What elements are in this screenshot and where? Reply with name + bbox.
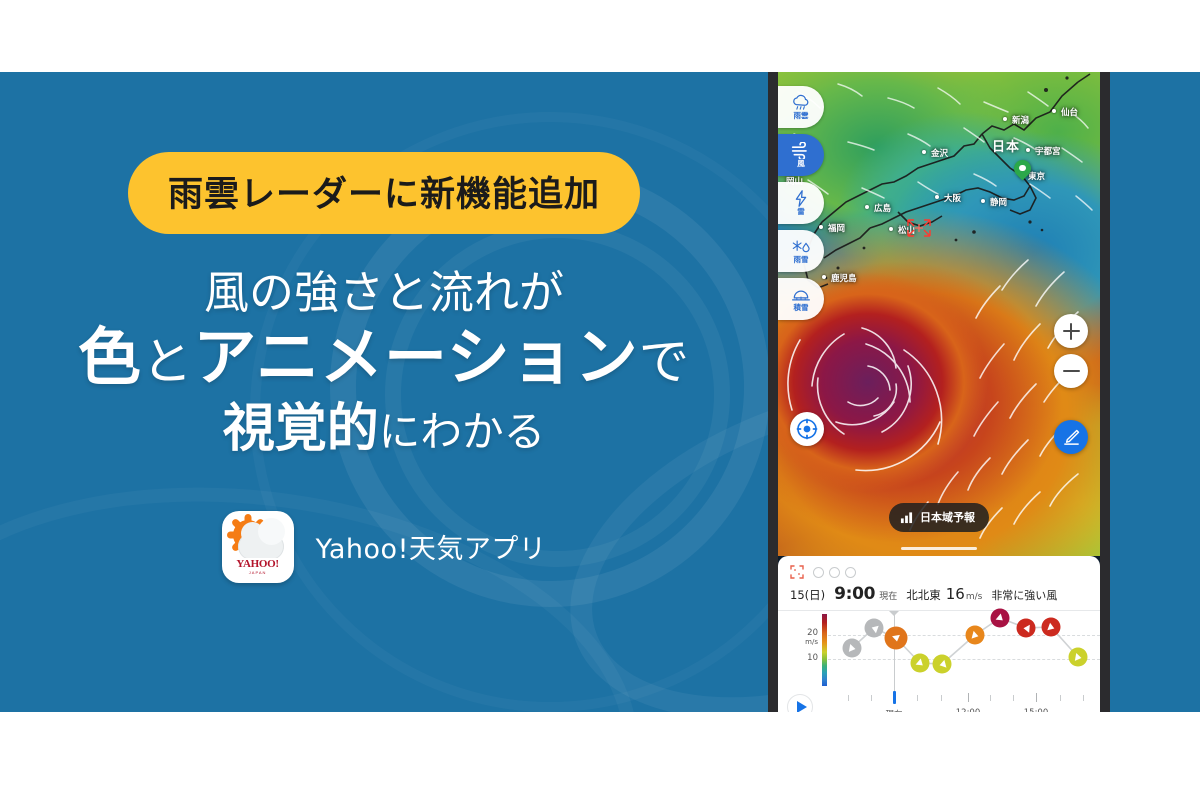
zoom-in-button[interactable] <box>1054 314 1088 348</box>
pagination-dot[interactable] <box>813 567 824 578</box>
yahoo-japan-logo: YAHOO! JAPAN <box>230 558 286 577</box>
headline-line-1: 風の強さと流れが <box>78 266 690 319</box>
headline-line2-c: アニメーション <box>193 321 638 394</box>
headline-line2-b: と <box>142 332 193 391</box>
bar-chart-icon <box>900 511 913 524</box>
data-point[interactable] <box>1042 618 1061 637</box>
summary-speed: 16 <box>946 585 965 603</box>
city-label-sendai: 仙台 <box>1061 106 1078 118</box>
phone-screen: 日本 仙台 新潟 金沢 宇都宮 東京 静岡 大阪 広島 松山 福岡 岡山 鹿児島 <box>778 72 1100 712</box>
feature-badge: 雨雲レーダーに新機能追加 <box>128 152 640 234</box>
timeline-tick <box>848 695 849 701</box>
summary-time: 9:00 <box>834 584 875 604</box>
data-point[interactable] <box>865 619 884 638</box>
play-button[interactable] <box>787 694 813 712</box>
japan-forecast-label: 日本域予報 <box>920 509 975 525</box>
rain-cloud-icon <box>791 94 811 111</box>
wind-direction-arrow <box>870 623 878 633</box>
layer-button-rain-cloud[interactable]: 雨雲 <box>778 86 824 128</box>
timeline-tick <box>990 695 991 701</box>
layer-button-thunder[interactable]: 雷 <box>778 182 824 224</box>
wind-direction-arrow <box>971 630 979 639</box>
summary-now-label: 現在 <box>879 589 897 602</box>
layer-label-thunder: 雷 <box>797 208 805 216</box>
city-label-kanazawa: 金沢 <box>931 147 948 159</box>
plus-icon <box>1063 323 1080 340</box>
layer-label-rain-snow: 雨雪 <box>794 256 809 264</box>
promo-copy: 雨雲レーダーに新機能追加 風の強さと流れが 色とアニメーションで 視覚的にわかる… <box>0 72 768 712</box>
pin-dot <box>1019 165 1026 172</box>
city-label-osaka: 大阪 <box>944 192 961 204</box>
headline: 風の強さと流れが 色とアニメーションで 視覚的にわかる <box>78 266 690 461</box>
banner-image: 雨雲レーダーに新機能追加 風の強さと流れが 色とアニメーションで 視覚的にわかる… <box>0 0 1200 800</box>
edit-icon <box>1063 429 1080 446</box>
city-label-kagoshima: 鹿児島 <box>831 272 857 284</box>
x-axis-label-1500: 15:00 <box>1024 708 1049 712</box>
wind-direction-arrow <box>995 613 1005 623</box>
expand-icon[interactable] <box>790 565 804 579</box>
timeline-tick-now <box>893 691 896 704</box>
timeline-tick <box>1060 695 1061 701</box>
summary-unit: m/s <box>966 592 983 602</box>
yahoo-weather-app-icon: YAHOO! JAPAN <box>222 511 294 583</box>
city-label-utsunomiya: 宇都宮 <box>1035 145 1061 157</box>
timeline-tick <box>941 695 942 701</box>
pagination-dots[interactable] <box>813 567 856 578</box>
zoom-out-button[interactable] <box>1054 354 1088 388</box>
layer-button-wind[interactable]: 風 <box>778 134 824 176</box>
headline-line2-a: 色 <box>78 321 142 394</box>
phone-mockup: 日本 仙台 新潟 金沢 宇都宮 東京 静岡 大阪 広島 松山 福岡 岡山 鹿児島 <box>768 72 1110 712</box>
data-point[interactable] <box>1069 648 1088 667</box>
wind-direction-arrow <box>1023 624 1030 632</box>
data-point[interactable] <box>933 655 952 674</box>
layer-button-rain-snow[interactable]: 雨雪 <box>778 230 824 272</box>
data-point[interactable] <box>966 626 985 645</box>
headline-line3-a: 視覚的 <box>223 399 379 459</box>
japan-forecast-button[interactable]: 日本域予報 <box>889 503 989 532</box>
typhoon-marker-icon <box>906 218 932 238</box>
yahoo-logo-text: YAHOO! <box>236 559 278 570</box>
wind-direction-arrow <box>848 644 855 653</box>
snow-rain-icon <box>791 238 811 255</box>
timeline-tick <box>1013 695 1014 701</box>
country-label: 日本 <box>992 136 1020 155</box>
timeline-tick-major <box>1036 693 1037 702</box>
edit-layers-button[interactable] <box>1054 420 1088 454</box>
layer-label-wind: 風 <box>797 160 805 168</box>
data-point[interactable] <box>843 639 862 658</box>
headline-line2-d: で <box>639 332 690 391</box>
summary-description: 非常に強い風 <box>991 587 1057 603</box>
wind-direction-arrow <box>892 634 901 641</box>
summary-direction: 北北東 <box>906 587 941 603</box>
pagination-dot[interactable] <box>845 567 856 578</box>
wind-direction-arrow <box>938 659 946 668</box>
data-point-current[interactable] <box>885 627 908 650</box>
headline-line-2: 色とアニメーションで <box>78 321 690 395</box>
snow-pile-icon <box>791 286 811 303</box>
lightning-icon <box>791 190 811 207</box>
summary-date: 15(日) <box>790 587 825 603</box>
play-icon <box>797 701 807 712</box>
data-point[interactable] <box>911 654 930 673</box>
wind-chart-sheet: 15(日) 9:00 現在 北北東 16 m/s 非常に強い風 20 m/s <box>778 556 1100 712</box>
timeline-tick <box>1083 695 1084 701</box>
locate-icon <box>796 418 818 440</box>
timeline-tick <box>871 695 872 701</box>
wind-icon <box>791 142 811 159</box>
wind-direction-arrow <box>1074 653 1081 662</box>
timeline-tick-major <box>968 693 969 702</box>
sheet-top-row <box>778 556 1100 579</box>
wind-summary-header: 15(日) 9:00 現在 北北東 16 m/s 非常に強い風 <box>778 579 1100 604</box>
current-location-pin <box>1014 160 1031 182</box>
x-axis-label-now: 現在 <box>885 708 902 712</box>
locate-me-button[interactable] <box>790 412 824 446</box>
wind-radar-map[interactable]: 日本 仙台 新潟 金沢 宇都宮 東京 静岡 大阪 広島 松山 福岡 岡山 鹿児島 <box>778 72 1100 556</box>
city-label-shizuoka: 静岡 <box>990 196 1007 208</box>
x-axis-label-1200: 12:00 <box>956 708 981 712</box>
home-indicator <box>901 547 977 550</box>
wind-direction-arrow <box>915 658 925 668</box>
chart-timeline[interactable]: 現在 12:00 15:00 <box>778 693 1100 712</box>
map-layer-toolbar: 雨雲 風 <box>778 86 830 320</box>
city-label-fukuoka: 福岡 <box>828 222 845 234</box>
city-label-niigata: 新潟 <box>1012 114 1029 126</box>
pagination-dot[interactable] <box>829 567 840 578</box>
app-lockup: YAHOO! JAPAN Yahoo!天気アプリ <box>222 511 547 583</box>
headline-line3-b: にわかる <box>379 407 545 456</box>
layer-label-snow-depth: 積雪 <box>794 304 809 312</box>
minus-icon <box>1063 363 1080 380</box>
app-name-label: Yahoo!天気アプリ <box>316 527 547 566</box>
data-point[interactable] <box>991 609 1010 628</box>
japan-logo-text: JAPAN <box>249 571 267 575</box>
wind-direction-arrow <box>1047 622 1055 632</box>
city-label-hiroshima: 広島 <box>874 202 891 214</box>
data-point[interactable] <box>1017 619 1036 638</box>
layer-label-rain-cloud: 雨雲 <box>794 112 809 120</box>
headline-line-3: 視覚的にわかる <box>78 399 690 460</box>
wind-speed-chart[interactable]: 20 m/s 10 <box>778 611 1100 693</box>
layer-button-snow-depth[interactable]: 積雪 <box>778 278 824 320</box>
cloud-icon <box>238 533 284 560</box>
timeline-tick <box>917 695 918 701</box>
